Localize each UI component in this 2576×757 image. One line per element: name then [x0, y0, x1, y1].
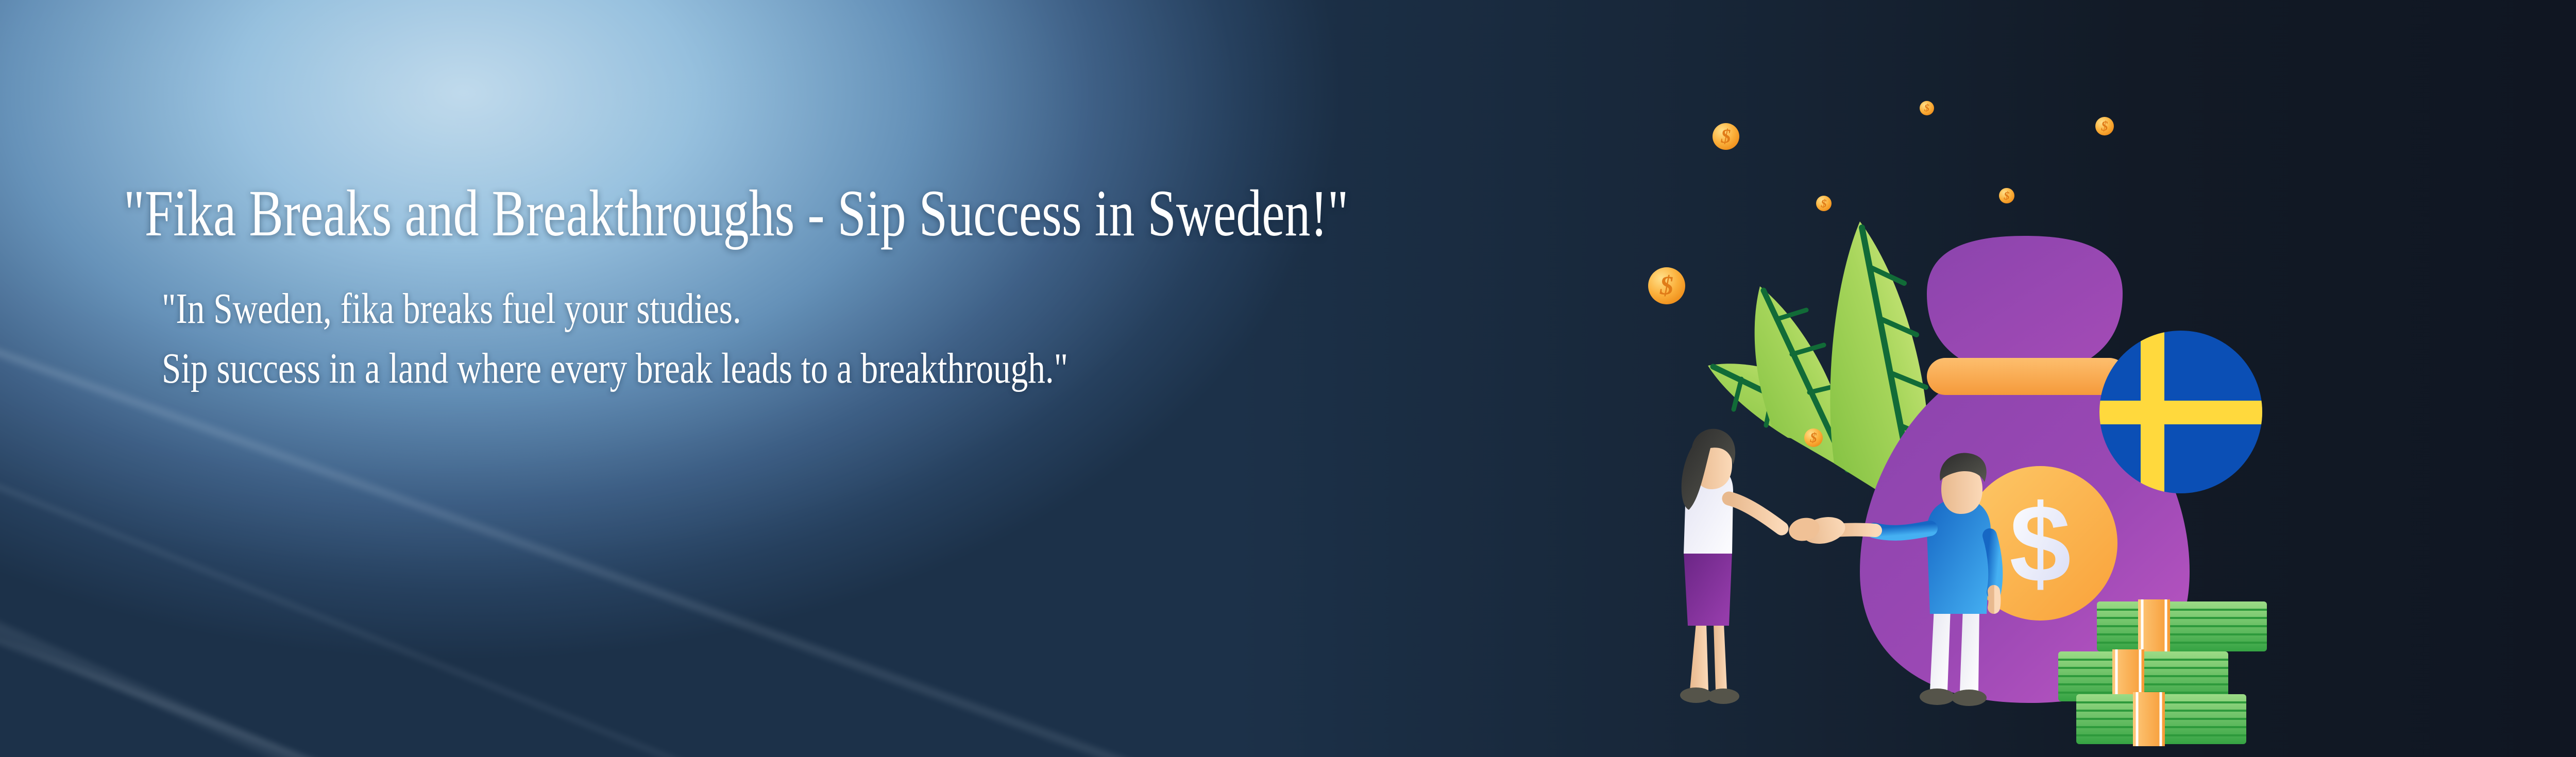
coin-dollar-symbol: $ — [2004, 190, 2010, 202]
handshake-icon — [1787, 513, 1848, 547]
man-shirt — [1927, 498, 1991, 614]
man-shoe-left — [1920, 689, 1955, 705]
woman-figure — [1680, 429, 1782, 704]
banner-subtitle-line-1: "In Sweden, fika breaks fuel your studie… — [162, 279, 1327, 339]
coin-dollar-symbol: $ — [1924, 102, 1929, 114]
banner-text-block: "Fika Breaks and Breakthroughs - Sip Suc… — [124, 180, 1618, 399]
floating-coin-3: $ — [1816, 196, 1832, 211]
floating-coin-7: $ — [1804, 428, 1823, 447]
coin-dollar-symbol: $ — [1659, 271, 1673, 301]
money-bag-handshake-sweden-illustration: $ — [1618, 77, 2298, 726]
banner-subtitle: "In Sweden, fika breaks fuel your studie… — [162, 279, 1327, 399]
woman-skirt — [1684, 551, 1732, 626]
promo-banner: "Fika Breaks and Breakthroughs - Sip Suc… — [0, 0, 2576, 757]
cash-stack-bottom — [2076, 692, 2246, 746]
floating-coin-4: $ — [1999, 188, 2014, 203]
banner-subtitle-line-2: Sip success in a land where every break … — [162, 339, 1327, 399]
floating-coin-1: $ — [1713, 123, 1739, 150]
floating-coin-5: $ — [2095, 117, 2114, 135]
swedish-flag-icon — [2099, 331, 2262, 493]
cash-stack-top — [2097, 599, 2267, 653]
floating-coin-6: $ — [1648, 267, 1685, 304]
woman-arm — [1729, 498, 1782, 528]
floating-coin-2: $ — [1920, 101, 1934, 115]
woman-shoe-left — [1680, 687, 1712, 703]
coin-dollar-symbol: $ — [1821, 197, 1827, 210]
dollar-symbol: $ — [2009, 481, 2071, 606]
man-shoe-right — [1952, 690, 1987, 706]
coin-dollar-symbol: $ — [1721, 126, 1731, 147]
money-bag-band — [1927, 358, 2128, 395]
man-arm — [1874, 528, 1930, 533]
coin-dollar-symbol: $ — [1810, 431, 1817, 445]
woman-shoe-right — [1707, 689, 1739, 704]
coin-dollar-symbol: $ — [2101, 119, 2108, 134]
banner-headline: "Fika Breaks and Breakthroughs - Sip Suc… — [124, 180, 1289, 246]
